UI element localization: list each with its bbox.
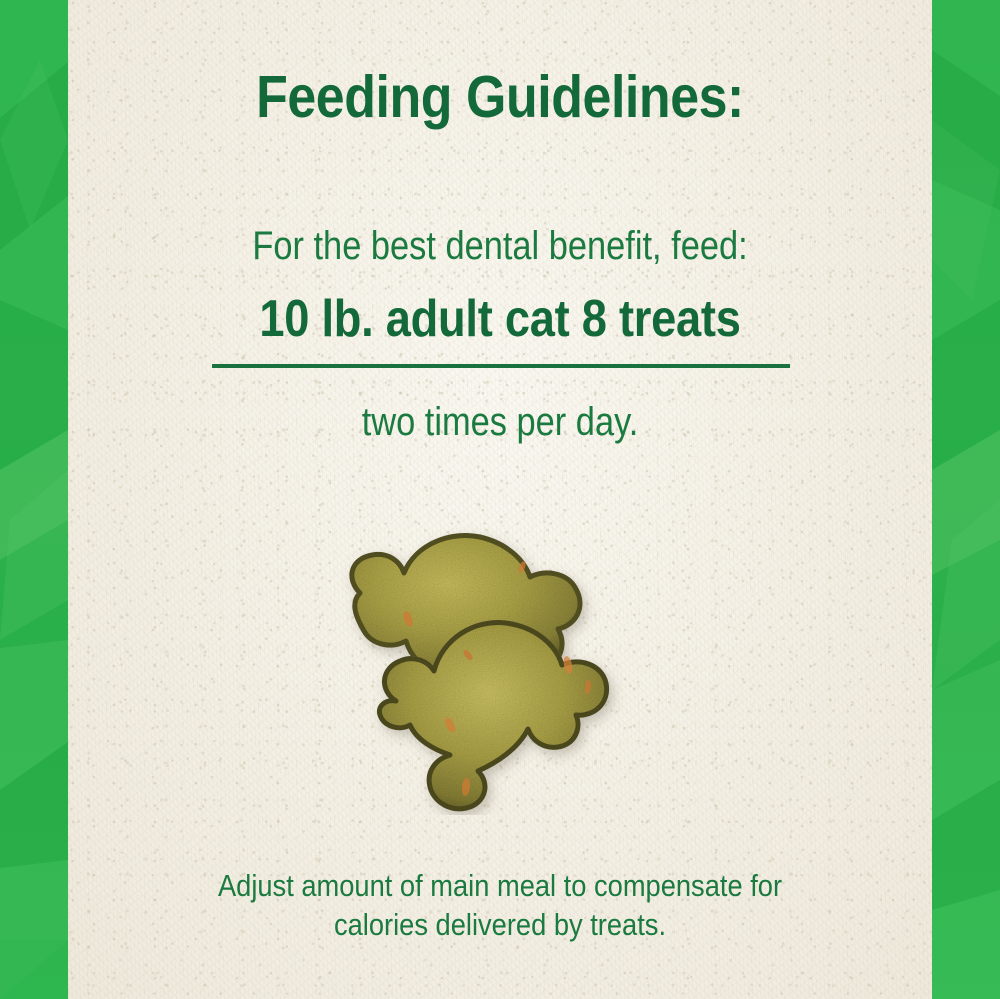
dosage-frequency-text: two times per day.: [128, 398, 871, 446]
content-column: Feeding Guidelines: For the best dental …: [68, 0, 932, 999]
cat-dental-treats-photo: [300, 515, 700, 815]
dosage-amount-text: 10 lb. adult cat 8 treats: [124, 288, 876, 350]
dosage-lead-in-text: For the best dental benefit, feed:: [128, 222, 871, 270]
green-faceted-band-left: [0, 0, 68, 999]
feeding-guidelines-panel: Feeding Guidelines: For the best dental …: [0, 0, 1000, 999]
footnote-line-2: calories delivered by treats.: [120, 905, 880, 944]
page-title: Feeding Guidelines:: [120, 62, 880, 132]
dosage-underline-rule: [212, 364, 790, 368]
green-faceted-band-right: [932, 0, 1000, 999]
right-band-facets: [932, 0, 1000, 999]
left-band-facets: [0, 0, 68, 999]
footnote-text: Adjust amount of main meal to compensate…: [120, 866, 880, 944]
treats-illustration: [300, 515, 700, 815]
footnote-line-1: Adjust amount of main meal to compensate…: [120, 866, 880, 905]
